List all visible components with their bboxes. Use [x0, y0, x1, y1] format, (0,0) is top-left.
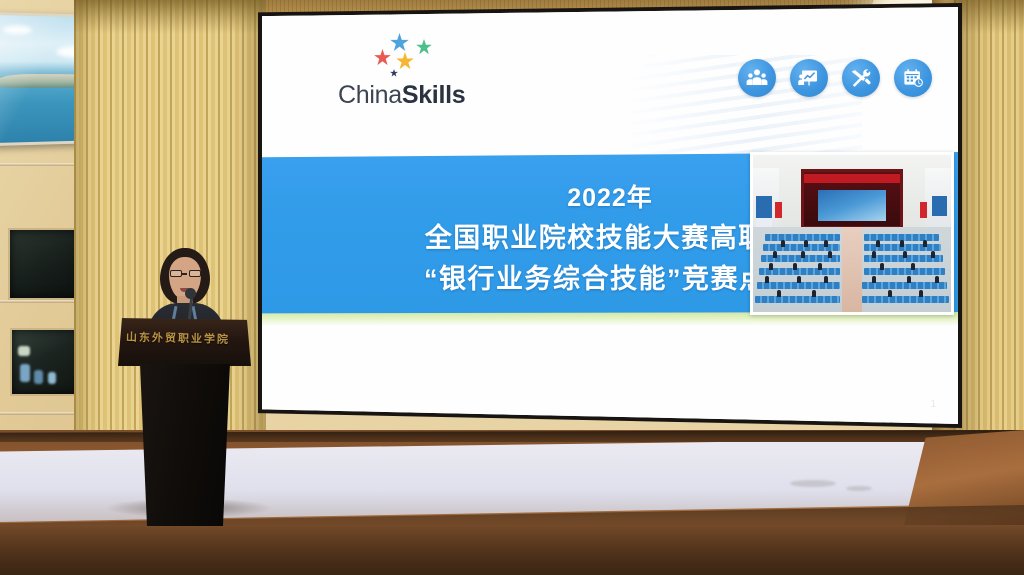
- presentation-slide: ChinaSkills: [262, 7, 958, 424]
- projection-screen: ChinaSkills: [262, 7, 958, 424]
- star-green-icon: [416, 39, 432, 55]
- logo-word-skills: Skills: [402, 81, 466, 109]
- microphone-head-icon: [185, 288, 196, 299]
- star-yellow-icon: [396, 52, 414, 70]
- slide-title-line2: 全国职业院校技能大赛高职组: [425, 216, 796, 255]
- star-navy-icon: [390, 69, 398, 77]
- curtain-fold: [74, 0, 266, 34]
- booth-window-lower: [10, 328, 82, 396]
- glasses-right-lens-icon: [189, 270, 201, 277]
- slide-icon-row: [738, 59, 932, 97]
- competition-hall-photo: [750, 152, 954, 315]
- curtain-fold: [954, 0, 1024, 34]
- slide-title-line3: “银行业务综合技能”竞赛点评: [424, 257, 796, 296]
- presentation-scene: ChinaSkills: [0, 0, 1024, 575]
- calendar-clock-icon: [894, 59, 932, 97]
- stage-curtain-right: [954, 0, 1024, 470]
- star-blue-icon: [390, 33, 409, 52]
- logo-word-china: China: [338, 81, 402, 109]
- slide-title-year: 2022年: [567, 178, 653, 214]
- podium: 山东外贸职业学院: [118, 318, 251, 526]
- presentation-board-icon: [790, 59, 828, 97]
- tools-icon: [842, 59, 880, 97]
- chinaskills-logo: ChinaSkills: [338, 31, 528, 117]
- booth-window-upper: [8, 228, 82, 300]
- logo-wordmark: ChinaSkills: [338, 81, 465, 110]
- logo-stars: [368, 31, 458, 83]
- podium-venue-label: 山东外贸职业学院: [126, 329, 244, 348]
- people-group-icon: [738, 59, 776, 97]
- slide-page-number: 1: [930, 399, 936, 410]
- glasses-bridge: [181, 273, 187, 275]
- star-red-icon: [374, 49, 391, 66]
- podium-column: [135, 364, 235, 526]
